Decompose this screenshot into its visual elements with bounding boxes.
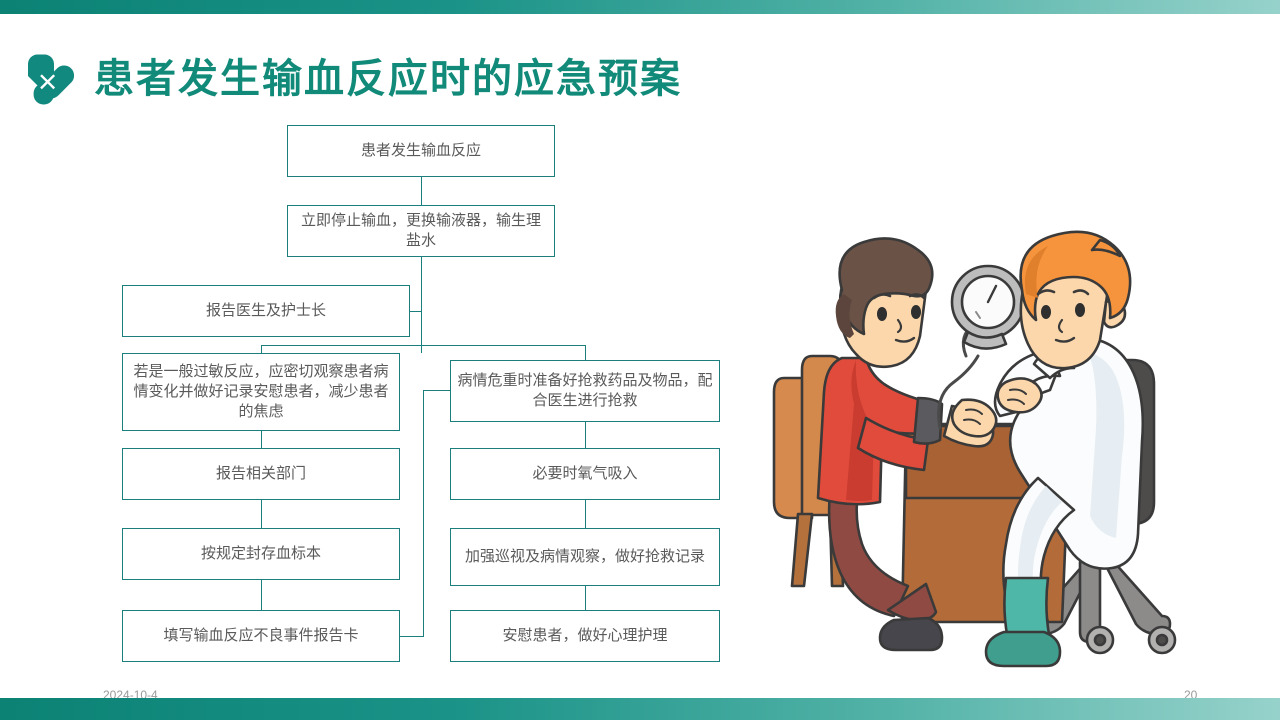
emergency-plan-flowchart: 患者发生输血反应 立即停止输血，更换输液器，输生理盐水 报告医生及护士长 若是一…	[0, 0, 760, 700]
flow-node-report-doctor-nurse[interactable]: 报告医生及护士长	[122, 285, 410, 337]
connector-sideline-to-n6	[400, 636, 424, 637]
flow-node-label: 报告相关部门	[129, 464, 393, 484]
flow-node-stop-transfusion[interactable]: 立即停止输血，更换输液器，输生理盐水	[287, 205, 555, 257]
connector-branch-left-drop	[261, 345, 262, 353]
flow-node-comfort-patient[interactable]: 安慰患者，做好心理护理	[450, 610, 720, 662]
connector-n7-n8	[585, 422, 586, 448]
flow-node-critical-prepare-rescue[interactable]: 病情危重时准备好抢救药品及物品，配合医生进行抢救	[450, 360, 720, 422]
connector-n7-sideline-top	[423, 390, 450, 391]
flow-node-label: 必要时氧气吸入	[457, 464, 713, 484]
flow-node-label: 病情危重时准备好抢救药品及物品，配合医生进行抢救	[457, 371, 713, 412]
flow-node-label: 立即停止输血，更换输液器，输生理盐水	[294, 211, 548, 252]
flow-node-strengthen-monitoring[interactable]: 加强巡视及病情观察，做好抢救记录	[450, 528, 720, 586]
flow-node-label: 患者发生输血反应	[294, 141, 548, 161]
flow-node-fill-adverse-event-card[interactable]: 填写输血反应不良事件报告卡	[122, 610, 400, 662]
flow-node-label: 按规定封存血标本	[129, 544, 393, 564]
flow-node-report-department[interactable]: 报告相关部门	[122, 448, 400, 500]
connector-n5-n6	[261, 580, 262, 610]
connector-branch-right-drop	[585, 345, 586, 360]
flow-node-patient-reaction[interactable]: 患者发生输血反应	[287, 125, 555, 177]
flow-node-label: 报告医生及护士长	[129, 301, 403, 321]
flow-node-label: 安慰患者，做好心理护理	[457, 626, 713, 646]
flow-node-seal-blood-sample[interactable]: 按规定封存血标本	[122, 528, 400, 580]
connector-n0-n1	[421, 177, 422, 205]
connector-n1-trunk	[421, 257, 422, 353]
connector-n4-n5	[261, 500, 262, 528]
connector-trunk-n2	[410, 311, 422, 312]
connector-sideline-vertical	[423, 390, 424, 636]
bottom-accent-bar	[0, 698, 1280, 720]
flow-node-label: 若是一般过敏反应，应密切观察患者病情变化并做好记录安慰患者，减少患者的焦虑	[129, 362, 393, 423]
flow-node-label: 加强巡视及病情观察，做好抢救记录	[457, 547, 713, 567]
connector-n9-n10	[585, 586, 586, 610]
flow-node-oxygen-inhalation[interactable]: 必要时氧气吸入	[450, 448, 720, 500]
flow-node-mild-allergy-observe[interactable]: 若是一般过敏反应，应密切观察患者病情变化并做好记录安慰患者，减少患者的焦虑	[122, 353, 400, 431]
connector-n8-n9	[585, 500, 586, 528]
connector-n3-n4	[261, 431, 262, 448]
connector-branch-bar	[261, 345, 585, 346]
slide-canvas: 患者发生输血反应时的应急预案 患者发生输血反应 立即停止输血，更换输液器，输	[0, 0, 1280, 720]
flow-node-label: 填写输血反应不良事件报告卡	[129, 626, 393, 646]
doctor-measuring-blood-pressure-illustration	[770, 228, 1240, 680]
